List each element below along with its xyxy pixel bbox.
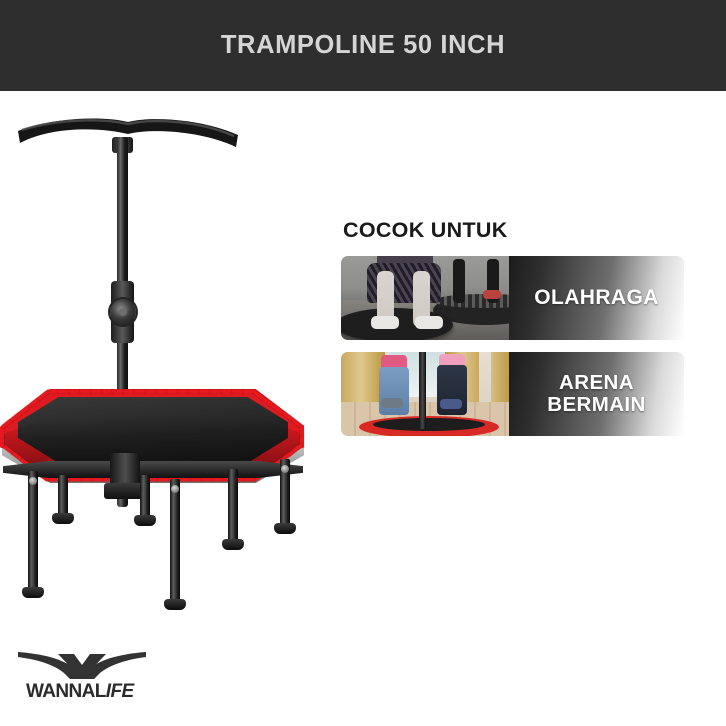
frame-tube — [3, 461, 303, 478]
wannalife-wordmark: WANNALIFE — [26, 681, 134, 703]
feature-photo-sport — [341, 256, 513, 340]
feature-card-olahraga[interactable]: OLAHRAGA — [341, 256, 684, 340]
trampoline-leg — [28, 471, 38, 591]
leg-foot-cap — [52, 513, 74, 524]
trampoline-leg — [58, 475, 68, 517]
leg-foot-cap — [164, 599, 186, 610]
feature-label-panel-play: ARENA BERMAIN — [509, 352, 684, 436]
feature-photo-play — [341, 352, 513, 436]
feature-label-play: ARENA BERMAIN — [547, 372, 645, 416]
leg-screw — [171, 485, 179, 493]
leg-foot-cap — [22, 587, 44, 598]
feature-label-panel-sport: OLAHRAGA — [509, 256, 684, 340]
bungee-cord — [69, 478, 82, 482]
leg-foot-cap — [222, 539, 244, 550]
leg-foot-cap — [134, 515, 156, 526]
leg-screw — [29, 477, 37, 485]
adjustment-knob-icon — [110, 299, 136, 325]
trampoline-leg — [140, 475, 150, 519]
wannalife-wing-icon — [18, 648, 146, 680]
trampoline-leg — [170, 479, 180, 603]
trampoline-leg — [228, 469, 238, 543]
feature-card-arena-bermain[interactable]: ARENA BERMAIN — [341, 352, 684, 436]
leg-foot-cap — [274, 523, 296, 534]
product-marketing-image: TRAMPOLINE 50 INCH COCOK UNTUK — [0, 0, 726, 726]
wordmark-main: WANNAL — [26, 681, 106, 702]
feature-label-sport: OLAHRAGA — [534, 287, 659, 310]
wordmark-italic: IFE — [106, 681, 134, 702]
trampoline-frame — [0, 383, 330, 613]
features-panel: COCOK UNTUK — [341, 218, 686, 448]
leg-screw — [281, 465, 289, 473]
bungee-cord — [199, 478, 212, 482]
brand-logo: WANNALIFE — [18, 648, 168, 708]
page-title: TRAMPOLINE 50 INCH — [221, 31, 505, 60]
feature-label-play-line1: ARENA — [559, 371, 634, 394]
header-banner: TRAMPOLINE 50 INCH — [0, 0, 726, 91]
product-image — [0, 95, 330, 615]
features-heading: COCOK UNTUK — [343, 218, 686, 243]
feature-label-play-line2: BERMAIN — [547, 393, 645, 416]
